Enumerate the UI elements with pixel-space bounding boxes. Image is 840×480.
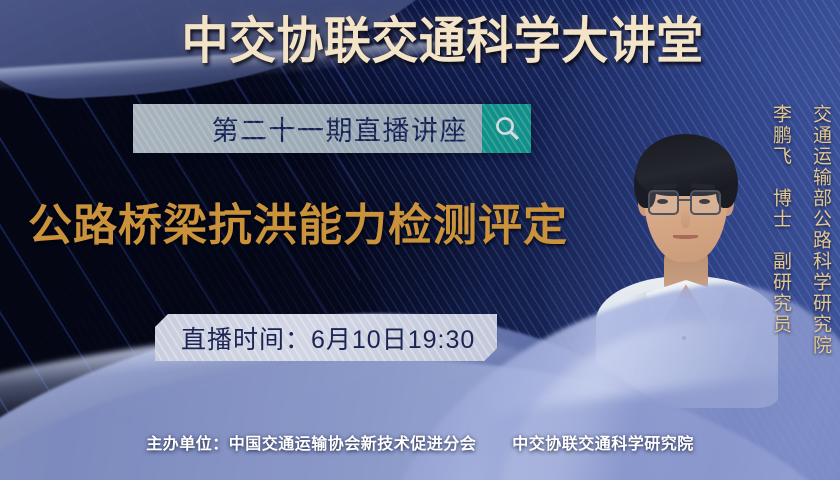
- session-banner: 第二十一期直播讲座: [133, 104, 531, 153]
- portrait-nose: [681, 208, 690, 228]
- lecture-topic: 公路桥梁抗洪能力检测评定: [28, 204, 568, 248]
- portrait-hair: [636, 134, 736, 196]
- footer-organizers: 主办单位：中国交通运输协会新技术促进分会 中交协联交通科学研究院: [0, 430, 840, 454]
- speaker-name-and-title: 李鹏飞 博士 副研究员: [767, 104, 794, 335]
- search-icon[interactable]: [482, 104, 531, 153]
- glasses-lens-right-icon: [690, 190, 721, 215]
- speaker-organization: 交通运输部公路科学研究院: [807, 104, 834, 356]
- session-label: 第二十一期直播讲座: [133, 104, 482, 153]
- page-title: 中交协联交通科学大讲堂: [25, 16, 815, 66]
- organizer-primary: 主办单位：中国交通运输协会新技术促进分会: [146, 436, 476, 453]
- glasses-bridge-icon: [679, 199, 690, 201]
- broadcast-time-badge: 直播时间：6月10日19:30: [155, 314, 497, 361]
- broadcast-time-label: 直播时间：6月10日19:30: [181, 320, 475, 356]
- organizer-secondary: 中交协联交通科学研究院: [512, 436, 694, 453]
- webinar-poster: 中交协联交通科学大讲堂 第二十一期直播讲座 公路桥梁抗洪能力检测评定 直播时间：…: [0, 0, 840, 480]
- portrait-mouth: [673, 235, 698, 239]
- glasses-lens-left-icon: [648, 190, 679, 215]
